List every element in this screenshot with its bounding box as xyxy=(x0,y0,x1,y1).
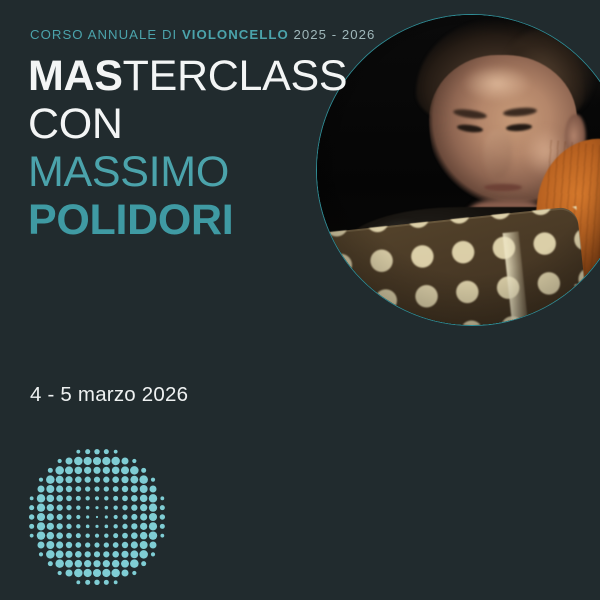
headline-line-massimo: MASSIMO xyxy=(28,151,229,194)
eyebrow-instrument: VIOLONCELLO xyxy=(182,27,289,42)
headline-mas: MAS xyxy=(28,52,123,100)
eyebrow-prefix: CORSO ANNUALE DI xyxy=(30,27,182,42)
photo-forehead-highlight xyxy=(457,62,538,105)
halftone-circle-logo xyxy=(27,447,167,587)
halftone-circle-logo-icon xyxy=(27,447,167,587)
photo-sheet-music xyxy=(575,279,600,326)
course-eyebrow: CORSO ANNUALE DI VIOLONCELLO 2025 - 2026 xyxy=(30,27,375,42)
event-dates: 4 - 5 marzo 2026 xyxy=(30,383,188,407)
headline-line-masterclass: MASTERCLASS xyxy=(28,55,347,98)
masterclass-poster: CORSO ANNUALE DI VIOLONCELLO 2025 - 2026… xyxy=(0,0,600,600)
headline-line-polidori: POLIDORI xyxy=(28,199,233,242)
photo-image xyxy=(317,15,600,325)
eyebrow-years: 2025 - 2026 xyxy=(289,27,376,42)
artist-photo-circle xyxy=(316,14,600,326)
headline-terclass: TERCLASS xyxy=(123,52,348,100)
headline-line-con: CON xyxy=(28,103,123,146)
